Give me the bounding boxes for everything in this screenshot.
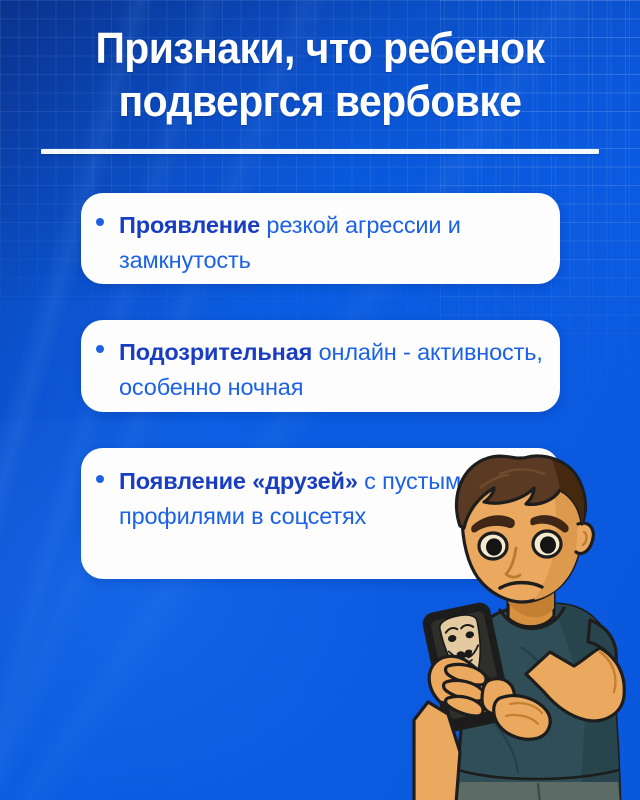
bullet-card-text-bold: Подозрительная [119, 339, 312, 365]
ear [576, 523, 593, 553]
boy-with-phone-illustration [404, 452, 640, 800]
bullet-card-text: Подозрительная онлайн - активность, особ… [119, 320, 560, 405]
bullet-col [81, 448, 119, 483]
bullet-card-aggression[interactable]: Проявление резкой агрессии и замкнутость [81, 193, 560, 284]
page-title-line-2: подвергся вербовке [22, 75, 617, 128]
bullet-col [81, 193, 119, 226]
page-title-line-1: Признаки, что ребенок [22, 22, 617, 75]
eye-right-pupil [540, 536, 556, 553]
bullet-card-text: Проявление резкой агрессии и замкнутость [119, 193, 560, 278]
bullet-dot-icon [96, 475, 104, 483]
title-divider [41, 149, 599, 154]
bullet-col [81, 320, 119, 353]
bullet-card-online-activity[interactable]: Подозрительная онлайн - активность, особ… [81, 320, 560, 412]
bullet-dot-icon [96, 345, 104, 353]
bullet-dot-icon [96, 218, 104, 226]
bullet-card-text-bold: Проявление [119, 212, 260, 238]
eye-left-pupil [486, 538, 502, 555]
bullet-card-text-bold: Появление «друзей» [119, 468, 358, 494]
infographic-poster: Признаки, что ребенок подвергся вербовке… [0, 0, 640, 800]
page-title: Признаки, что ребенок подвергся вербовке [0, 22, 640, 128]
